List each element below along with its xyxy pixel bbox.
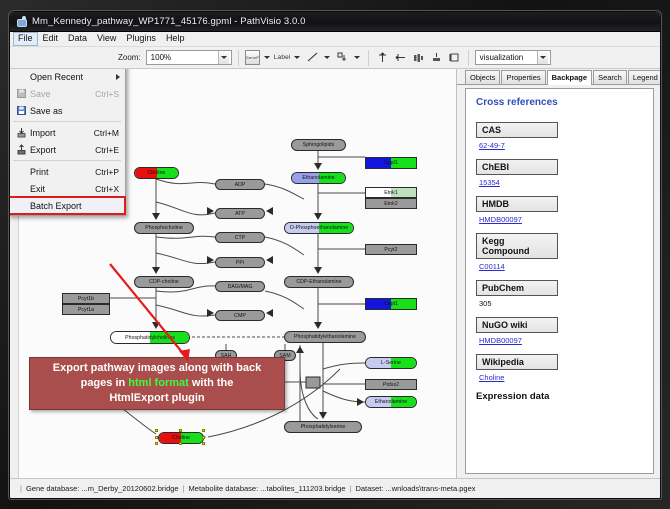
arrowhead (266, 207, 273, 215)
line-tool-icon[interactable] (305, 50, 320, 65)
toolbar-divider-2 (368, 50, 369, 66)
expression-data-heading: Expression data (476, 391, 645, 402)
pathway-node-etnk2[interactable]: Etnk2 (365, 198, 417, 209)
pathway-node-adp[interactable]: ADP (215, 179, 265, 190)
tab-objects[interactable]: Objects (465, 70, 500, 84)
datanode-glyph: GeneProduct (246, 55, 259, 60)
menu-view[interactable]: View (92, 32, 121, 46)
pathway-node-ophosphoetha[interactable]: O-Phosphoethanolamine (284, 222, 354, 234)
align-top-icon[interactable] (375, 50, 390, 65)
arrowhead (296, 346, 304, 353)
arrowhead (314, 213, 322, 220)
annotation-line-3: HtmlExport plugin (109, 392, 204, 404)
tab-search[interactable]: Search (593, 70, 627, 84)
arrowhead (152, 322, 160, 329)
file-menu-item-open-recent[interactable]: Open Recent (10, 69, 125, 85)
menu-help[interactable]: Help (161, 32, 190, 46)
arrowhead (152, 213, 160, 220)
file-menu-label: Exit (30, 184, 95, 194)
pathway-node-pcyt2[interactable]: Pcyt2 (365, 244, 417, 255)
pathway-node-cdp-ethanolamine[interactable]: CDP-Ethanolamine (284, 276, 354, 288)
label-tool-icon[interactable]: Label (275, 50, 290, 65)
arrowhead (314, 163, 322, 170)
right-sidebar: Objects Properties Backpage Search Legen… (457, 69, 660, 478)
node-label: Sgpl1 (366, 158, 416, 168)
xref-header-hmdb: HMDB (476, 196, 558, 212)
align-left-icon[interactable] (393, 50, 408, 65)
line-dropdown-icon[interactable] (323, 51, 332, 65)
zoom-label: Zoom: (118, 53, 141, 62)
pathway-node-cept1[interactable]: Cept1 (365, 298, 417, 310)
arrowhead (266, 256, 273, 264)
xref-value-cas[interactable]: 62-49-7 (479, 141, 645, 150)
pathway-node-phosphocholine[interactable]: Phosphocholine (134, 222, 194, 234)
tab-backpage[interactable]: Backpage (547, 70, 592, 85)
menu-plugins[interactable]: Plugins (121, 32, 161, 46)
arrowhead (314, 267, 322, 274)
menu-data[interactable]: Data (63, 32, 92, 46)
annotation-text: Export pathway images along with back pa… (53, 361, 261, 406)
file-menu-accelerator: Ctrl+P (95, 167, 125, 177)
toolbar-divider (238, 50, 239, 66)
save-icon (13, 88, 30, 99)
xref-header-cas: CAS (476, 122, 558, 138)
status-divider-0: | (16, 484, 26, 493)
gene-database-label: Gene database: (26, 484, 79, 493)
xref-value-wikipedia[interactable]: Choline (479, 373, 645, 382)
file-menu-item-save: SaveCtrl+S (10, 85, 125, 102)
xref-header-wikipedia: Wikipedia (476, 354, 558, 370)
zoom-combo[interactable]: 100% (146, 50, 232, 65)
file-menu-label: Print (30, 167, 95, 177)
node-label: Ethanolamine (366, 397, 416, 407)
xref-header-pubchem: PubChem (476, 280, 558, 296)
pathway-node-cdp-choline[interactable]: CDP-choline (134, 276, 194, 288)
submenu-arrow-icon (116, 74, 120, 80)
tab-legend[interactable]: Legend (628, 70, 661, 84)
node-label: L-Serine (366, 358, 416, 368)
file-menu-item-save-as[interactable]: Save as (10, 102, 125, 119)
node-label: Cept1 (366, 299, 416, 309)
cross-references-heading: Cross references (476, 97, 645, 108)
file-menu-item-import[interactable]: ImportCtrl+M (10, 124, 125, 141)
pathvisio-window: Mm_Kennedy_pathway_WP1771_45176.gpml - P… (9, 11, 661, 499)
datanode-tool-icon[interactable]: GeneProduct (245, 50, 260, 65)
selection-handles[interactable] (155, 429, 207, 447)
sidebar-tabstrip: Objects Properties Backpage Search Legen… (457, 69, 660, 85)
file-menu-label: Save (30, 89, 95, 99)
label-dropdown-icon[interactable] (293, 51, 302, 65)
save-as-icon (13, 105, 30, 116)
visualization-combo[interactable]: visualization (475, 50, 551, 65)
annotation-highlight: html format (128, 377, 189, 389)
pathway-node-sphingolipids[interactable]: Sphingolipids (291, 139, 346, 151)
align-vertical-icon[interactable] (429, 50, 444, 65)
xref-header-chebi: ChEBI (476, 159, 558, 175)
file-menu-label: Save as (30, 106, 119, 116)
file-menu-accelerator: Ctrl+M (94, 128, 125, 138)
toolbar-divider-3 (468, 50, 469, 66)
file-menu-accelerator: Ctrl+E (95, 145, 125, 155)
file-menu-accelerator: Ctrl+S (95, 89, 125, 99)
pathway-node-ptdcholines[interactable]: Phosphatidylcholines (110, 331, 190, 344)
menu-file[interactable]: File (13, 32, 38, 46)
toolbar: Zoom: 100% GeneProduct Label (10, 47, 660, 69)
file-menu-label: Batch Export (30, 201, 119, 211)
annotation-line-2-pre: pages in (81, 377, 129, 389)
common-width-icon[interactable] (447, 50, 462, 65)
annotation-callout: Export pathway images along with back pa… (29, 357, 285, 410)
status-bar: | Gene database: ...m_Derby_20120602.bri… (10, 478, 660, 497)
visualization-chevron-down-icon (537, 51, 548, 64)
pathway-node-cmp[interactable]: CMP (215, 310, 265, 321)
pathway-canvas[interactable]: CholineSphingolipidsSgpl1EthanolamineADP… (10, 69, 457, 478)
file-menu-label: Export (30, 145, 95, 155)
arrowhead (357, 398, 364, 406)
arrowhead (152, 267, 160, 274)
xref-header-kegg-compound: Kegg Compound (476, 233, 558, 259)
file-menu-label: Import (30, 128, 94, 138)
pathway-node-pcyt1b[interactable]: Pcyt1b (62, 293, 110, 304)
menu-edit[interactable]: Edit (38, 32, 64, 46)
receptor-dropdown-icon[interactable] (353, 51, 362, 65)
receptor-tool-icon[interactable] (335, 50, 350, 65)
file-menu-separator (13, 121, 121, 122)
pathway-node-ethanolamine-1[interactable]: Ethanolamine (291, 172, 346, 184)
pathway-node-ppi[interactable]: PPi (215, 257, 265, 268)
title-bar: Mm_Kennedy_pathway_WP1771_45176.gpml - P… (10, 12, 660, 32)
main-body: CholineSphingolipidsSgpl1EthanolamineADP… (10, 69, 660, 478)
pathvisio-icon (16, 16, 27, 27)
backpage-panel[interactable]: Cross references CAS62-49-7ChEBI15354HMD… (465, 88, 654, 474)
xref-header-nugo-wiki: NuGO wiki (476, 317, 558, 333)
node-label: O-Phosphoethanolamine (285, 223, 353, 233)
tab-properties[interactable]: Properties (501, 70, 545, 84)
anchor-box (306, 377, 320, 388)
xref-value-chebi[interactable]: 15354 (479, 178, 645, 187)
pathway-node-dag-mag[interactable]: DAG/MAG (215, 281, 265, 292)
screenshot-root: Mm_Kennedy_pathway_WP1771_45176.gpml - P… (0, 0, 670, 509)
datanode-dropdown-icon[interactable] (263, 51, 272, 65)
pathway-node-choline-top[interactable]: Choline (134, 167, 179, 179)
metabolite-database-value: ...tabolites_111203.bridge (260, 484, 345, 493)
file-menu-item-export[interactable]: ExportCtrl+E (10, 141, 125, 158)
xref-value-pubchem: 305 (479, 299, 645, 308)
dataset-label: Dataset: (355, 484, 383, 493)
xref-value-hmdb[interactable]: HMDB00097 (479, 215, 645, 224)
pathway-node-ptdethanolamine[interactable]: Phosphatidylethanolamine (284, 331, 366, 343)
cross-reference-list: CAS62-49-7ChEBI15354HMDBHMDB00097Kegg Co… (476, 122, 645, 382)
visualization-value: visualization (480, 53, 537, 62)
file-menu-label: Open Recent (30, 72, 116, 82)
file-menu-item-print[interactable]: PrintCtrl+P (10, 163, 125, 180)
arrowhead (314, 322, 322, 329)
label-glyph: Label (274, 54, 291, 61)
file-menu-accelerator: Ctrl+X (95, 184, 125, 194)
file-menu-dropdown[interactable]: NewCtrl+NOpenCtrl+OOpen RecentSaveCtrl+S… (10, 69, 126, 216)
annotation-line-1: Export pathway images along with back (53, 362, 261, 374)
annotation-line-2-post: with the (189, 377, 234, 389)
pathway-node-ethanolamine-2[interactable]: Ethanolamine (365, 396, 417, 408)
status-divider-2: | (345, 484, 355, 493)
align-center-icon[interactable] (411, 50, 426, 65)
arrowhead (266, 309, 273, 317)
pathway-node-ptdss2[interactable]: Ptdss2 (365, 379, 417, 390)
chevron-down-icon (218, 51, 229, 64)
window-title: Mm_Kennedy_pathway_WP1771_45176.gpml - P… (32, 16, 306, 27)
pathway-node-ctp[interactable]: CTP (215, 232, 265, 243)
node-label: Phosphatidylcholines (111, 332, 189, 343)
node-label: Choline (135, 168, 178, 178)
pathway-node-atp[interactable]: ATP (215, 208, 265, 219)
file-menu-separator (13, 160, 121, 161)
pathway-node-sgpl1[interactable]: Sgpl1 (365, 157, 417, 169)
import-icon (13, 127, 30, 138)
gene-database-value: ...m_Derby_20120602.bridge (81, 484, 178, 493)
menu-bar: File Edit Data View Plugins Help (10, 32, 660, 47)
zoom-value: 100% (151, 53, 218, 62)
arrowhead (319, 412, 327, 419)
node-label: Ethanolamine (292, 173, 345, 183)
xref-value-kegg-compound[interactable]: C00114 (479, 262, 645, 271)
xref-value-nugo-wiki[interactable]: HMDB00097 (479, 336, 645, 345)
dataset-value: ...wnloads\trans-meta.pgex (385, 484, 475, 493)
file-menu-item-batch-export[interactable]: Batch Export (10, 197, 125, 214)
pathway-node-l-serine[interactable]: L-Serine (365, 357, 417, 369)
status-divider-1: | (179, 484, 189, 493)
export-icon (13, 144, 30, 155)
pathway-node-pcyt1a[interactable]: Pcyt1a (62, 304, 110, 315)
pathway-node-etnk1[interactable]: Etnk1 (365, 187, 417, 198)
file-menu-item-exit[interactable]: ExitCtrl+X (10, 180, 125, 197)
pathway-node-ptdserine[interactable]: Phosphatidylserine (284, 421, 362, 433)
metabolite-database-label: Metabolite database: (189, 484, 259, 493)
